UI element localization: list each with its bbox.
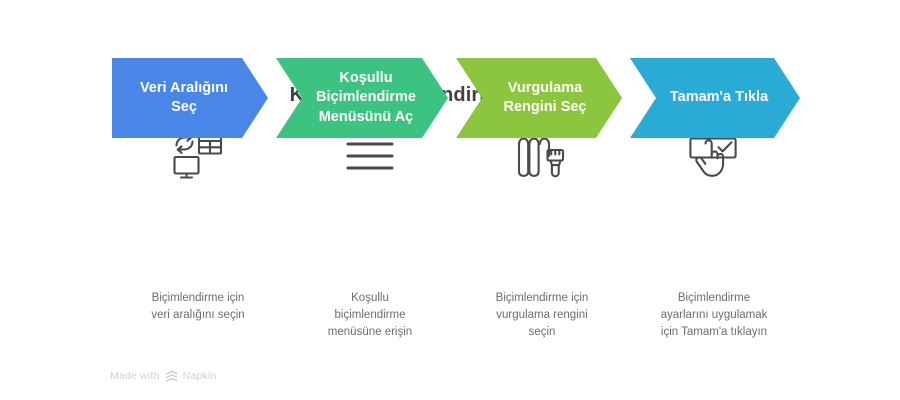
- chevron-label-1: Veri Aralığını Seç: [134, 79, 234, 117]
- step-1: Biçimlendirme için veri aralığını seçin: [112, 128, 284, 368]
- watermark-brand: Napkin: [183, 370, 217, 382]
- chevron-step-3[interactable]: Vurgulama Rengini Seç: [456, 58, 622, 138]
- napkin-logo-icon: [165, 370, 178, 382]
- diagram-canvas: Koşullu Biçimlendirme Uygulama Veri Aral…: [0, 0, 900, 400]
- watermark-prefix: Made with: [110, 370, 160, 382]
- step-4: Biçimlendirme ayarlarını uygulamak için …: [628, 128, 800, 368]
- step-caption-4: Biçimlendirme ayarlarını uygulamak için …: [628, 290, 800, 341]
- steps-container: Biçimlendirme için veri aralığını seçin …: [112, 128, 800, 368]
- chevron-label-2: Koşullu Biçimlendirme Menüsünü Aç: [310, 69, 422, 126]
- step-caption-2: Koşullu biçimlendirme menüsüne erişin: [284, 290, 456, 341]
- step-caption-1: Biçimlendirme için veri aralığını seçin: [112, 290, 284, 324]
- step-caption-3: Biçimlendirme için vurgulama rengini seç…: [456, 290, 628, 341]
- napkin-watermark[interactable]: Made with Napkin: [110, 370, 217, 382]
- chevron-step-4[interactable]: Tamam'a Tıkla: [630, 58, 800, 138]
- chevron-step-2[interactable]: Koşullu Biçimlendirme Menüsünü Aç: [276, 58, 448, 138]
- chevron-label-4: Tamam'a Tıkla: [664, 88, 774, 107]
- step-3: Biçimlendirme için vurgulama rengini seç…: [456, 128, 628, 368]
- chevron-step-1[interactable]: Veri Aralığını Seç: [112, 58, 268, 138]
- chevron-label-3: Vurgulama Rengini Seç: [498, 79, 593, 117]
- step-2: Koşullu biçimlendirme menüsüne erişin: [284, 128, 456, 368]
- process-chevron-band: Veri Aralığını Seç Koşullu Biçimlendirme…: [112, 58, 800, 138]
